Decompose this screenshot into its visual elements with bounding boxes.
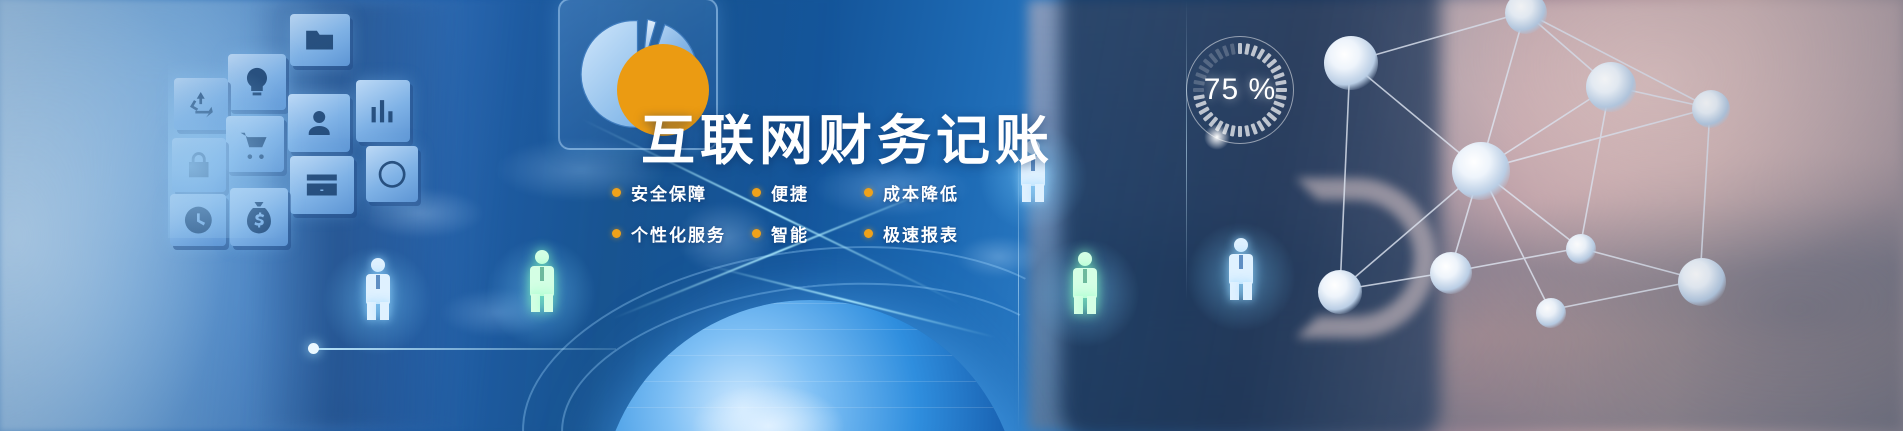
bullet-dot-icon	[752, 229, 761, 238]
clock-check-icon	[170, 194, 226, 246]
icon-cube-cluster	[178, 8, 438, 228]
person-icon	[1072, 252, 1098, 314]
marketing-banner: 75 %	[0, 0, 1903, 431]
network-node	[1430, 252, 1472, 294]
feature-label: 成本降低	[883, 180, 959, 205]
vertical-guide	[1018, 140, 1019, 430]
money-bag-icon	[230, 188, 288, 246]
bullet-dot-icon	[864, 188, 873, 197]
network-graph	[1280, 0, 1900, 320]
feature-item-security[interactable]: 安全保障	[612, 180, 752, 205]
folder-icon	[290, 14, 350, 66]
feature-label: 极速报表	[883, 221, 959, 246]
feature-row: 个性化服务 智能 极速报表	[612, 221, 992, 246]
person-icon	[1228, 238, 1254, 300]
network-node	[1586, 62, 1636, 112]
network-node	[1536, 298, 1566, 328]
accent-rule	[316, 348, 616, 350]
network-node	[1452, 142, 1510, 200]
feature-item-personalized-service[interactable]: 个性化服务	[612, 221, 752, 246]
feature-label: 便捷	[771, 180, 809, 205]
network-node	[1678, 258, 1726, 306]
accent-rule-dot	[308, 343, 319, 354]
feature-item-fast-reports[interactable]: 极速报表	[864, 221, 959, 246]
vertical-guide	[1186, 0, 1187, 300]
feature-item-intelligent[interactable]: 智能	[752, 221, 864, 246]
credit-card-dollar-icon	[290, 156, 354, 214]
progress-gauge: 75 %	[1186, 36, 1294, 144]
feature-row: 安全保障 便捷 成本降低	[612, 180, 992, 205]
feature-label: 安全保障	[631, 180, 707, 205]
feature-label: 个性化服务	[631, 221, 726, 246]
person-icon	[529, 250, 555, 312]
user-icon	[288, 94, 350, 152]
bar-chart-icon	[356, 80, 410, 142]
globe-circle-icon	[366, 146, 418, 202]
page-title: 互联网财务记账	[641, 96, 1054, 175]
feature-label: 智能	[771, 221, 809, 246]
bullet-dot-icon	[864, 229, 873, 238]
feature-item-convenience[interactable]: 便捷	[752, 180, 864, 205]
feature-item-cost-reduction[interactable]: 成本降低	[864, 180, 959, 205]
feature-list: 安全保障 便捷 成本降低 个性化服务 智能 极速报表	[612, 180, 992, 262]
lock-icon	[172, 138, 226, 192]
gauge-spark	[1204, 124, 1230, 150]
gauge-value-label: 75 %	[1186, 36, 1294, 144]
bullet-dot-icon	[752, 188, 761, 197]
bullet-dot-icon	[612, 188, 621, 197]
network-node	[1692, 90, 1730, 128]
network-node	[1566, 234, 1596, 264]
bullet-dot-icon	[612, 229, 621, 238]
lightbulb-icon	[228, 54, 286, 110]
network-node	[1324, 36, 1378, 90]
person-icon	[365, 258, 391, 320]
shopping-cart-icon	[226, 116, 284, 172]
recycle-icon	[174, 78, 228, 130]
network-node	[1318, 270, 1362, 314]
